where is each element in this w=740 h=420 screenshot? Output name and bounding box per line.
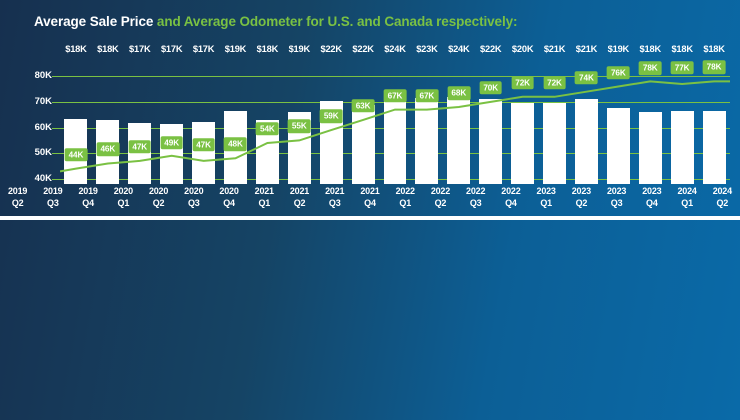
y-axis-tick-label: 70K — [35, 96, 52, 107]
title-green-part: and Average Odometer for U.S. and Canada… — [153, 14, 517, 29]
x-label-quarter: Q4 — [352, 198, 387, 210]
x-label-year: 2020 — [176, 186, 211, 198]
y-axis-tick-label: 80K — [35, 70, 52, 81]
x-label-quarter: Q4 — [493, 198, 528, 210]
x-label-quarter: Q2 — [423, 198, 458, 210]
x-label-quarter: Q2 — [0, 198, 35, 210]
x-axis-tick-label: 2022Q3 — [458, 186, 493, 209]
x-axis-tick-label: 2022Q1 — [388, 186, 423, 209]
odometer-value-label: 55K — [288, 120, 311, 134]
x-label-year: 2021 — [352, 186, 387, 198]
x-axis-tick-label: 2023Q4 — [634, 186, 669, 209]
x-label-quarter: Q1 — [669, 198, 704, 210]
page-title: Average Sale Price and Average Odometer … — [34, 14, 517, 29]
x-label-year: 2023 — [529, 186, 564, 198]
x-label-year: 2020 — [106, 186, 141, 198]
odometer-value-label: 70K — [479, 81, 502, 95]
us-chart-panel: $18K$18K$17K$17K$17K$19K$18K$19K$22K$22K… — [0, 0, 740, 216]
x-label-year: 2022 — [458, 186, 493, 198]
x-label-year: 2020 — [141, 186, 176, 198]
x-label-year: 2019 — [35, 186, 70, 198]
us-odometer-labels: 44K46K47K49K47K48K54K55K59K63K67K67K68K7… — [60, 44, 730, 184]
x-label-quarter: Q1 — [529, 198, 564, 210]
x-label-year: 2024 — [705, 186, 740, 198]
y-axis-tick-label: 60K — [35, 122, 52, 133]
x-axis-tick-label: 2024Q2 — [705, 186, 740, 209]
x-label-year: 2022 — [388, 186, 423, 198]
odometer-value-label: 63K — [352, 99, 375, 113]
x-label-year: 2019 — [0, 186, 35, 198]
x-axis-tick-label: 2019Q4 — [70, 186, 105, 209]
y-axis-tick — [52, 179, 60, 180]
x-label-year: 2023 — [564, 186, 599, 198]
y-axis-tick-label: 50K — [35, 147, 52, 158]
x-axis-tick-label: 2021Q3 — [317, 186, 352, 209]
x-axis-tick-label: 2020Q4 — [211, 186, 246, 209]
odometer-value-label: 47K — [128, 140, 151, 154]
title-white-part: Average Sale Price — [34, 14, 153, 29]
x-label-quarter: Q2 — [705, 198, 740, 210]
x-label-quarter: Q4 — [70, 198, 105, 210]
x-label-quarter: Q4 — [634, 198, 669, 210]
x-label-quarter: Q2 — [564, 198, 599, 210]
x-axis-tick-label: 2020Q3 — [176, 186, 211, 209]
odometer-value-label: 47K — [192, 138, 215, 152]
x-label-year: 2019 — [70, 186, 105, 198]
x-axis-tick-label: 2021Q1 — [247, 186, 282, 209]
x-axis-tick-label: 2019Q3 — [35, 186, 70, 209]
x-label-year: 2020 — [211, 186, 246, 198]
x-label-quarter: Q2 — [141, 198, 176, 210]
odometer-value-label: 68K — [447, 86, 470, 100]
x-axis-tick-label: 2021Q2 — [282, 186, 317, 209]
x-label-quarter: Q1 — [247, 198, 282, 210]
x-label-year: 2021 — [282, 186, 317, 198]
y-axis-tick-label: 40K — [35, 173, 52, 184]
odometer-value-label: 72K — [511, 76, 534, 90]
odometer-value-label: 67K — [416, 89, 439, 103]
odometer-value-label: 78K — [703, 61, 726, 75]
x-axis-tick-label: 2023Q1 — [529, 186, 564, 209]
odometer-value-label: 72K — [543, 76, 566, 90]
x-axis-tick-label: 2022Q4 — [493, 186, 528, 209]
odometer-value-label: 67K — [384, 89, 407, 103]
x-axis-tick-label: 2019Q2 — [0, 186, 35, 209]
x-axis-tick-label: 2024Q1 — [669, 186, 704, 209]
odometer-value-label: 76K — [607, 66, 630, 80]
y-axis-tick — [52, 153, 60, 154]
canada-chart-panel: $24K$23K$22K$22K$22K$25K$25K$27K$30K$30K… — [0, 220, 740, 420]
x-axis-tick-label: 2023Q2 — [564, 186, 599, 209]
x-label-year: 2021 — [247, 186, 282, 198]
x-label-year: 2024 — [669, 186, 704, 198]
odometer-value-label: 46K — [96, 143, 119, 157]
us-x-axis-labels: 2019Q22019Q32019Q42020Q12020Q22020Q32020… — [0, 186, 740, 209]
x-label-year: 2022 — [493, 186, 528, 198]
x-label-year: 2023 — [634, 186, 669, 198]
x-label-year: 2022 — [423, 186, 458, 198]
x-axis-tick-label: 2020Q2 — [141, 186, 176, 209]
x-label-quarter: Q3 — [599, 198, 634, 210]
x-axis-tick-label: 2021Q4 — [352, 186, 387, 209]
odometer-value-label: 74K — [575, 71, 598, 85]
x-label-quarter: Q3 — [176, 198, 211, 210]
x-label-quarter: Q1 — [388, 198, 423, 210]
y-axis-tick — [52, 102, 60, 103]
us-plot-area: $18K$18K$17K$17K$17K$19K$18K$19K$22K$22K… — [60, 44, 730, 184]
x-label-quarter: Q3 — [317, 198, 352, 210]
y-axis-tick — [52, 128, 60, 129]
odometer-value-label: 54K — [256, 122, 279, 136]
x-label-year: 2023 — [599, 186, 634, 198]
x-axis-tick-label: 2023Q3 — [599, 186, 634, 209]
x-label-quarter: Q4 — [211, 198, 246, 210]
odometer-value-label: 78K — [639, 62, 662, 76]
x-label-year: 2021 — [317, 186, 352, 198]
x-label-quarter: Q3 — [35, 198, 70, 210]
x-label-quarter: Q1 — [106, 198, 141, 210]
odometer-value-label: 59K — [320, 109, 343, 123]
odometer-value-label: 48K — [224, 138, 247, 152]
odometer-value-label: 49K — [160, 136, 183, 150]
x-axis-tick-label: 2020Q1 — [106, 186, 141, 209]
x-label-quarter: Q2 — [282, 198, 317, 210]
x-label-quarter: Q3 — [458, 198, 493, 210]
odometer-value-label: 44K — [65, 148, 88, 162]
panel-divider — [0, 216, 740, 220]
y-axis-tick — [52, 76, 60, 77]
odometer-value-label: 77K — [671, 61, 694, 75]
x-axis-tick-label: 2022Q2 — [423, 186, 458, 209]
